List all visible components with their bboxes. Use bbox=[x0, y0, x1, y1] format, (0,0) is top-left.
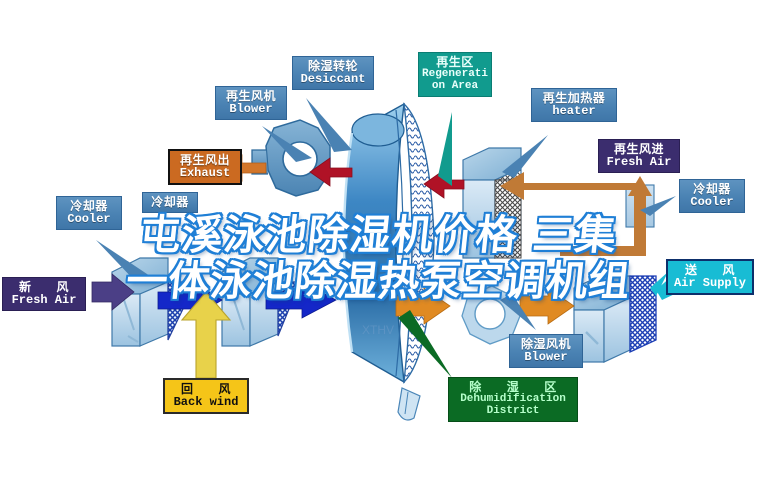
label-regeneration-heater-en: heater bbox=[536, 105, 612, 118]
label-back-wind-cn: 回 风 bbox=[169, 383, 243, 396]
label-regeneration-exhaust-en: Exhaust bbox=[174, 167, 236, 180]
label-regeneration-exhaust[interactable]: 再生风出 Exhaust bbox=[168, 149, 242, 185]
desiccant-rotor-graphic bbox=[344, 104, 434, 420]
label-desiccant-wheel-cn: 除湿转轮 bbox=[297, 60, 369, 73]
arrow-regen-air-path-1 bbox=[500, 172, 640, 200]
label-regeneration-fresh-air-in-cn: 再生风进 bbox=[603, 143, 675, 156]
label-cooler-right-cn: 冷却器 bbox=[684, 183, 740, 196]
label-air-supply-cn: 送 风 bbox=[672, 264, 748, 277]
label-desiccant-wheel-en: Desiccant bbox=[297, 73, 369, 86]
label-regeneration-fresh-air-in-en: Fresh Air bbox=[603, 156, 675, 169]
label-dehumidification-district[interactable]: 除 湿 区 Dehumidification District bbox=[448, 377, 578, 422]
label-dehumidification-blower-en: Blower bbox=[514, 351, 578, 364]
label-fresh-air-in-en: Fresh Air bbox=[7, 294, 81, 307]
label-regeneration-heater-cn: 再生加热器 bbox=[536, 92, 612, 105]
label-fresh-air-in[interactable]: 新 风 Fresh Air bbox=[2, 277, 86, 311]
label-regeneration-fresh-air-in[interactable]: 再生风进 Fresh Air bbox=[598, 139, 680, 173]
label-cooler-left-en: Cooler bbox=[61, 213, 117, 226]
label-dehumidification-blower-cn: 除湿风机 bbox=[514, 338, 578, 351]
label-cooler-left-cn: 冷却器 bbox=[61, 200, 117, 213]
label-air-supply[interactable]: 送 风 Air Supply bbox=[666, 259, 754, 295]
label-cooler-left-behind-cn: 冷却器 bbox=[147, 196, 193, 209]
regeneration-blower-graphic bbox=[252, 120, 330, 196]
supply-coil-graphic bbox=[574, 276, 656, 362]
label-cooler-right[interactable]: 冷却器 Cooler bbox=[679, 179, 745, 213]
label-regeneration-heater[interactable]: 再生加热器 heater bbox=[531, 88, 617, 122]
label-regeneration-area-en2: on Area bbox=[422, 81, 488, 93]
label-air-supply-en: Air Supply bbox=[672, 277, 748, 290]
label-regeneration-blower[interactable]: 再生风机 Blower bbox=[215, 86, 287, 120]
label-dehumidification-district-en2: District bbox=[453, 406, 573, 418]
diagram-canvas: XTHV 除湿转轮 Desiccant 再生风机 Blower 再生区 Rege… bbox=[0, 0, 757, 488]
label-dehumidification-district-cn: 除 湿 区 bbox=[453, 381, 573, 394]
label-back-wind[interactable]: 回 风 Back wind bbox=[163, 378, 249, 414]
label-desiccant-wheel[interactable]: 除湿转轮 Desiccant bbox=[292, 56, 374, 90]
dehumidifier-schematic-svg: XTHV bbox=[0, 0, 757, 488]
watermark-text: XTHV bbox=[362, 323, 394, 337]
label-regeneration-exhaust-cn: 再生风出 bbox=[174, 154, 236, 167]
label-cooler-left[interactable]: 冷却器 Cooler bbox=[56, 196, 122, 230]
label-regeneration-blower-en: Blower bbox=[220, 103, 282, 116]
label-regeneration-blower-cn: 再生风机 bbox=[220, 90, 282, 103]
label-cooler-left-behind[interactable]: 冷却器 bbox=[142, 192, 198, 213]
label-back-wind-en: Back wind bbox=[169, 396, 243, 409]
label-regeneration-area[interactable]: 再生区 Regenerati on Area bbox=[418, 52, 492, 97]
label-cooler-right-en: Cooler bbox=[684, 196, 740, 209]
label-dehumidification-blower[interactable]: 除湿风机 Blower bbox=[509, 334, 583, 368]
label-regeneration-area-cn: 再生区 bbox=[422, 56, 488, 69]
label-fresh-air-in-cn: 新 风 bbox=[7, 281, 81, 294]
